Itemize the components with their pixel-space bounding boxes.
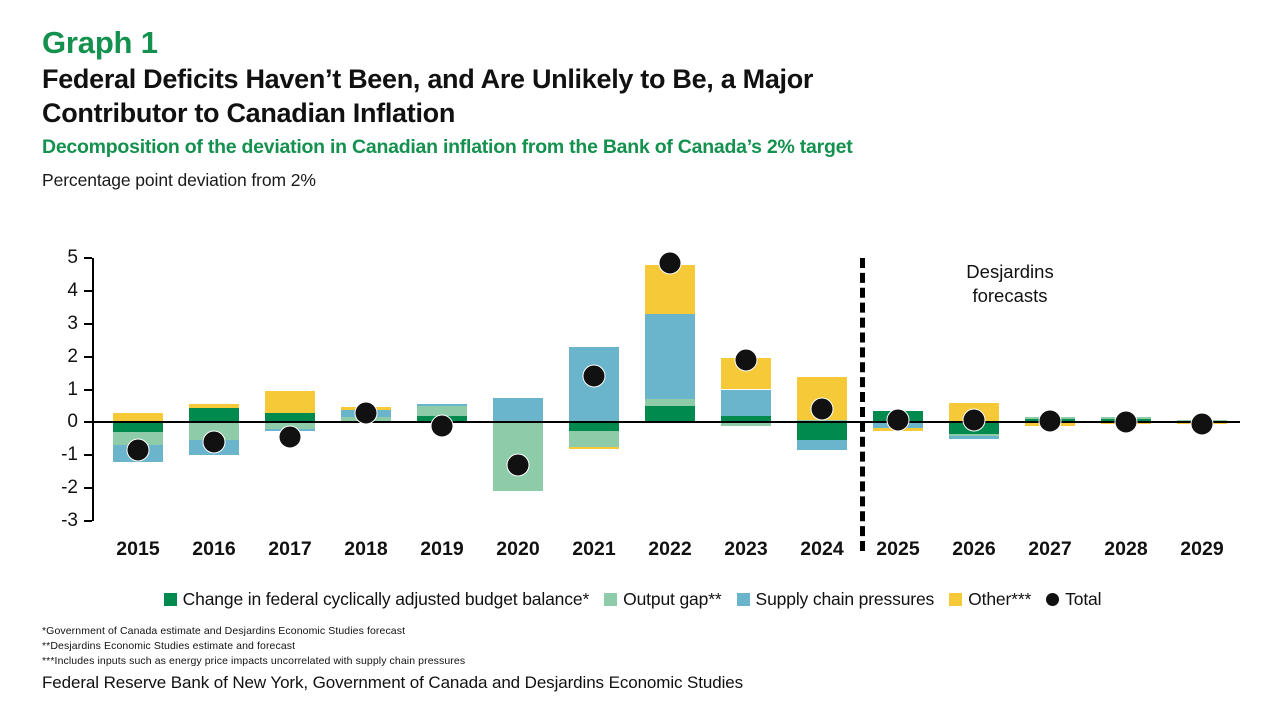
- bar-segment: [949, 436, 999, 439]
- y-axis-line: [92, 258, 94, 521]
- y-axis-tick-label: -2: [44, 477, 78, 499]
- legend-label: Other***: [968, 589, 1031, 610]
- bar-segment: [797, 440, 847, 450]
- forecast-annotation-line-1: Desjardins: [910, 260, 1110, 284]
- y-axis-tick-mark: [84, 356, 92, 358]
- bar-segment: [113, 422, 163, 432]
- header-block: Graph 1 Federal Deficits Haven’t Been, a…: [42, 26, 1252, 191]
- y-axis-tick-label: 3: [44, 313, 78, 335]
- legend-swatch-icon: [604, 593, 617, 606]
- total-marker-2017: [279, 426, 302, 449]
- y-axis-tick-label: -1: [44, 444, 78, 466]
- total-marker-2019: [431, 414, 454, 437]
- total-marker-2016: [203, 431, 226, 454]
- total-marker-2028: [1115, 410, 1138, 433]
- y-axis-tick-mark: [84, 520, 92, 522]
- page-title-line-2: Contributor to Canadian Inflation: [42, 97, 1252, 131]
- forecast-divider-line: [860, 258, 865, 551]
- total-marker-2029: [1191, 413, 1214, 436]
- y-axis-tick-label: 2: [44, 346, 78, 368]
- bar-segment: [569, 447, 619, 449]
- footnote-2: **Desjardins Economic Studies estimate a…: [42, 639, 1192, 654]
- bar-segment: [417, 404, 467, 406]
- total-marker-2018: [355, 401, 378, 424]
- total-marker-2026: [963, 408, 986, 431]
- legend-item-3[interactable]: Other***: [949, 589, 1031, 610]
- y-axis-tick-label: 5: [44, 247, 78, 269]
- bar-group-2019: [417, 246, 467, 536]
- bar-segment: [721, 390, 771, 416]
- y-axis-tick-mark: [84, 421, 92, 423]
- y-axis-tick-label: 0: [44, 411, 78, 433]
- bar-segment: [645, 406, 695, 422]
- bar-group-2022: [645, 246, 695, 536]
- bar-group-2015: [113, 246, 163, 536]
- legend-label: Output gap**: [623, 589, 721, 610]
- legend-dot-icon: [1046, 593, 1059, 606]
- footnote-3: ***Includes inputs such as energy price …: [42, 654, 1192, 669]
- bar-group-2017: [265, 246, 315, 536]
- chart-canvas: 543210-1-2-3Desjardinsforecasts: [0, 246, 1280, 536]
- legend-label: Change in federal cyclically adjusted bu…: [183, 589, 590, 610]
- footnote-1: *Government of Canada estimate and Desja…: [42, 624, 1192, 639]
- legend-item-0[interactable]: Change in federal cyclically adjusted bu…: [164, 589, 590, 610]
- page-title: Federal Deficits Haven’t Been, and Are U…: [42, 63, 1252, 131]
- graph-number-label: Graph 1: [42, 26, 1252, 59]
- bar-segment: [645, 399, 695, 406]
- bar-group-2024: [797, 246, 847, 536]
- y-axis-tick-mark: [84, 290, 92, 292]
- legend-swatch-icon: [949, 593, 962, 606]
- x-axis-labels: 2015201620172018201920202021202220232024…: [0, 538, 1280, 566]
- total-marker-2027: [1039, 410, 1062, 433]
- y-axis-tick-mark: [84, 454, 92, 456]
- y-axis-tick-mark: [84, 487, 92, 489]
- legend-item-2[interactable]: Supply chain pressures: [737, 589, 935, 610]
- total-marker-2022: [659, 251, 682, 274]
- y-axis-tick-mark: [84, 323, 92, 325]
- bar-segment: [645, 314, 695, 399]
- total-marker-2024: [811, 398, 834, 421]
- y-axis-tick-label: 1: [44, 379, 78, 401]
- bar-group-2023: [721, 246, 771, 536]
- legend-label: Total: [1065, 589, 1101, 610]
- y-axis-tick-label: -3: [44, 510, 78, 532]
- bar-group-2018: [341, 246, 391, 536]
- forecast-annotation-line-2: forecasts: [910, 284, 1110, 308]
- bar-group-2016: [189, 246, 239, 536]
- bar-segment: [189, 408, 239, 423]
- x-axis-label-2029: 2029: [1157, 538, 1247, 561]
- total-marker-2023: [735, 348, 758, 371]
- bar-segment: [493, 398, 543, 423]
- chart-plot-area: 543210-1-2-3Desjardinsforecasts: [0, 246, 1280, 536]
- bar-segment: [265, 391, 315, 412]
- legend-swatch-icon: [737, 593, 750, 606]
- graph-page: Graph 1 Federal Deficits Haven’t Been, a…: [0, 0, 1280, 720]
- bar-group-2029: [1177, 246, 1227, 536]
- legend-label: Supply chain pressures: [756, 589, 935, 610]
- total-marker-2020: [507, 454, 530, 477]
- total-marker-2015: [127, 439, 150, 462]
- y-axis-tick-mark: [84, 389, 92, 391]
- source-line: Federal Reserve Bank of New York, Govern…: [42, 673, 743, 693]
- legend-item-1[interactable]: Output gap**: [604, 589, 721, 610]
- bar-group-2020: [493, 246, 543, 536]
- bar-group-2021: [569, 246, 619, 536]
- legend-swatch-icon: [164, 593, 177, 606]
- y-axis-unit-note: Percentage point deviation from 2%: [42, 170, 1252, 191]
- footnotes-block: *Government of Canada estimate and Desja…: [42, 624, 1192, 669]
- bar-segment: [569, 422, 619, 430]
- y-axis-tick-label: 4: [44, 280, 78, 302]
- bar-segment: [189, 404, 239, 407]
- total-marker-2025: [887, 408, 910, 431]
- bar-segment: [797, 422, 847, 440]
- forecast-annotation: Desjardinsforecasts: [910, 260, 1110, 308]
- bar-segment: [569, 431, 619, 447]
- page-subtitle: Decomposition of the deviation in Canadi…: [42, 136, 1252, 159]
- chart-legend: Change in federal cyclically adjusted bu…: [0, 586, 1280, 612]
- y-axis-tick-mark: [84, 257, 92, 259]
- page-title-line-1: Federal Deficits Haven’t Been, and Are U…: [42, 63, 1252, 97]
- total-marker-2021: [583, 365, 606, 388]
- zero-baseline: [92, 421, 1240, 423]
- legend-item-4[interactable]: Total: [1046, 589, 1101, 610]
